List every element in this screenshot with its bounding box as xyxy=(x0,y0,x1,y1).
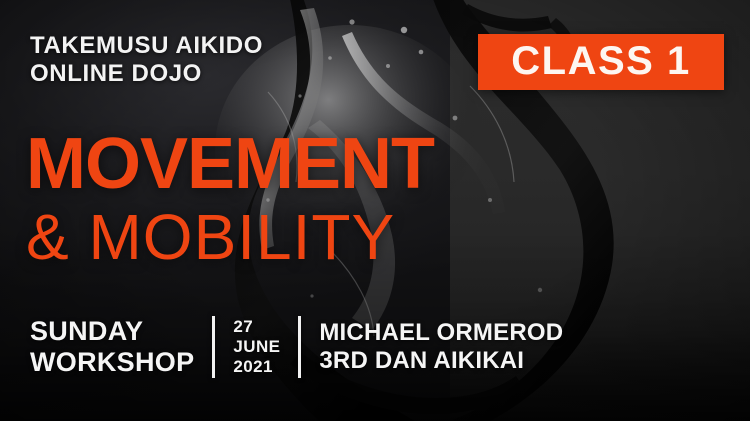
brand-line-2: ONLINE DOJO xyxy=(30,60,263,88)
event-date: 27 JUNE 2021 xyxy=(233,317,280,377)
headline-secondary: & MOBILITY xyxy=(26,205,395,269)
presenter-name: MICHAEL ORMEROD xyxy=(319,319,563,347)
presenter-info: MICHAEL ORMEROD 3RD DAN AIKIKAI xyxy=(319,319,563,375)
event-date-month: JUNE xyxy=(233,337,280,357)
class-badge-label: CLASS 1 xyxy=(511,41,690,84)
divider-one xyxy=(212,316,215,378)
poster-canvas: TAKEMUSU AIKIDO ONLINE DOJO CLASS 1 MOVE… xyxy=(0,0,750,421)
divider-two xyxy=(298,316,301,378)
brand-title: TAKEMUSU AIKIDO ONLINE DOJO xyxy=(30,32,263,88)
event-date-year: 2021 xyxy=(233,357,280,377)
class-badge: CLASS 1 xyxy=(478,34,724,90)
presenter-rank: 3RD DAN AIKIKAI xyxy=(319,347,563,375)
event-title-line-2: WORKSHOP xyxy=(30,347,194,378)
event-date-day: 27 xyxy=(233,317,280,337)
event-title-line-1: SUNDAY xyxy=(30,316,194,347)
event-title: SUNDAY WORKSHOP xyxy=(30,316,194,378)
brand-line-1: TAKEMUSU AIKIDO xyxy=(30,32,263,60)
footer-bar: SUNDAY WORKSHOP 27 JUNE 2021 MICHAEL ORM… xyxy=(30,308,563,386)
headline-primary: MOVEMENT xyxy=(26,128,434,200)
